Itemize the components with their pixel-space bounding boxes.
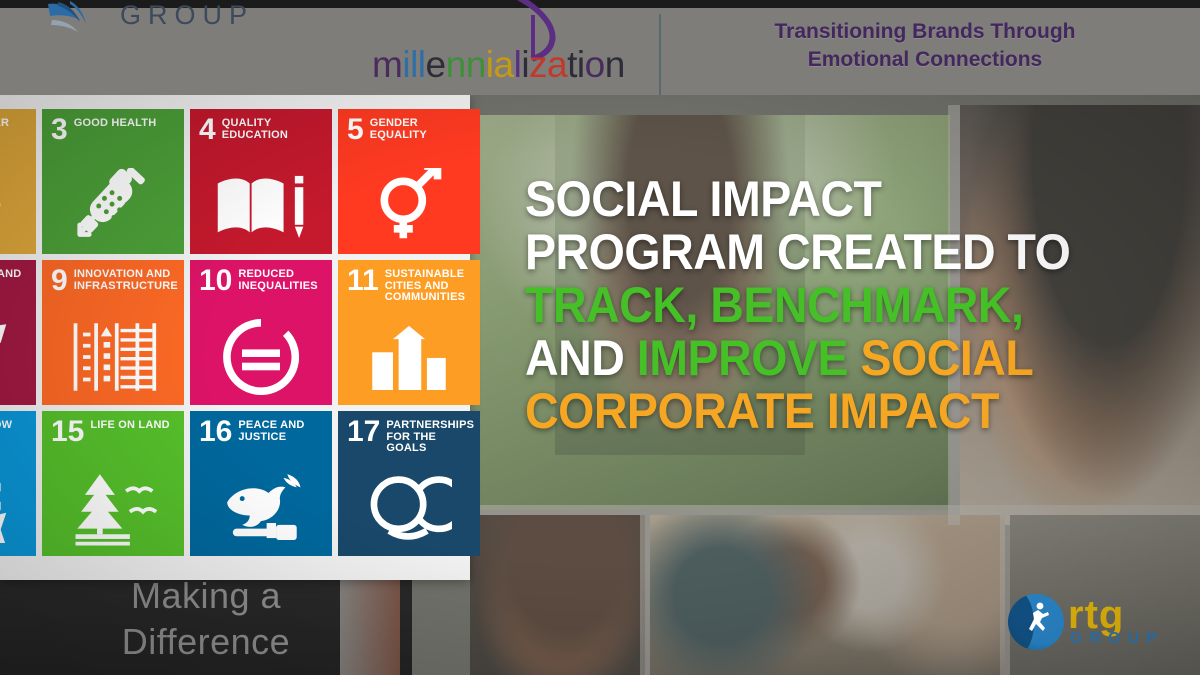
sdg-tile-header: 9INNOVATION AND INFRASTRUCTURE [51,268,178,294]
rtg-wordmark: rtg [1068,596,1124,634]
sdg-tile-4[interactable]: 4QUALITY EDUCATION [190,109,332,254]
headline-line-2: PROGRAM CREATED TO [525,226,1009,279]
sdg-tile-2[interactable]: 2ZERO HUNGER [0,109,36,254]
headline-line-3: TRACK, BENCHMARK, [525,279,1009,332]
sdg-tile-title: GOOD HEALTH [74,117,157,130]
sdg-tile-title: ZERO HUNGER [0,117,9,130]
sdg-tile-5[interactable]: 5GENDER EQUALITY [338,109,480,254]
headline-segment-4-2: IMPROVE [637,330,861,386]
sdg-tile-title: LIFE ON LAND [90,419,169,432]
rtg-group-subtext: GROUP [1070,630,1164,648]
mlz-letter-4: e [426,44,446,85]
sdg-tile-header: 14LIFE BELOW WATER [0,419,30,445]
mlz-letter-6: n [466,44,486,85]
mlz-letter-8: a [494,44,514,85]
sdg-tile-number: 16 [199,419,232,445]
mlz-letter-10: i [521,44,529,85]
slide-headline: SOCIAL IMPACTPROGRAM CREATED TOTRACK, BE… [525,173,1009,438]
sdg-tile-header: 15LIFE ON LAND [51,419,178,445]
slide-body: Making a Difference SOCIAL IMPACTPROGRAM… [0,95,1200,675]
chalkboard-caption: Making a Difference [0,573,412,665]
sdg-tile-header: 10REDUCED INEQUALITIES [199,268,326,294]
mlz-letter-3: l [418,44,426,85]
sdg-tile-number: 17 [347,419,380,445]
sdg-tile-number: 5 [347,117,364,143]
header-tagline: Transitioning Brands Through Emotional C… [690,18,1160,74]
sdg-goals-grid: 2ZERO HUNGER 3GOOD HEALTH 4QUALITY EDUCA… [0,109,480,556]
book-pencil-icon [190,166,332,246]
mlz-letter-14: i [577,44,585,85]
headline-segment-2-1: PROGRAM CREATED TO [525,224,1070,280]
mlz-letter-5: n [446,44,466,85]
city-buildings-icon [338,317,480,397]
millennialization-wordmark: millennialization [372,44,625,86]
partnership-rings-icon [338,468,480,548]
tree-birds-icon [42,468,184,548]
mlz-letter-16: n [605,44,625,85]
sdg-tile-10[interactable]: 10REDUCED INEQUALITIES [190,260,332,405]
infrastructure-icon [42,317,184,397]
rtg-group-logo[interactable]: rtg GROUP [1008,592,1188,654]
millennialization-logo[interactable]: millennialization [372,2,642,98]
growth-chart-icon [0,317,36,397]
sdg-tile-title: QUALITY EDUCATION [222,117,326,141]
sdg-tile-title: GOOD JOBS AND ECONOMIC GROWTH [0,268,30,304]
sdg-tile-title: SUSTAINABLE CITIES AND COMMUNITIES [385,268,474,304]
sdg-tile-title: INNOVATION AND INFRASTRUCTURE [74,268,178,292]
sdg-tile-title: PEACE AND JUSTICE [238,419,326,443]
sdg-tile-3[interactable]: 3GOOD HEALTH [42,109,184,254]
sdg-tile-title: REDUCED INEQUALITIES [238,268,326,292]
mlz-letter-11: z [529,44,547,85]
sdg-tile-14[interactable]: 14LIFE BELOW WATER [0,411,36,556]
mlz-letter-2: l [410,44,418,85]
headline-segment-4-1: AND [525,330,637,386]
sdg-tile-9[interactable]: 9INNOVATION AND INFRASTRUCTURE [42,260,184,405]
bowl-steam-icon [0,166,36,246]
mlz-letter-0: m [372,44,402,85]
sdg-tile-15[interactable]: 15LIFE ON LAND [42,411,184,556]
headline-line-4: AND IMPROVE SOCIAL [525,332,1009,385]
mlz-letter-7: i [486,44,494,85]
tagline-line-2: Emotional Connections [690,46,1160,74]
fish-waves-icon [0,468,36,548]
sdg-tile-number: 11 [347,268,379,294]
dove-gavel-icon [190,468,332,548]
sdg-tile-header: 2ZERO HUNGER [0,117,30,143]
sdg-tile-number: 15 [51,419,84,445]
sdg-goals-panel[interactable]: 2ZERO HUNGER 3GOOD HEALTH 4QUALITY EDUCA… [0,95,470,580]
equals-circle-icon [190,317,332,397]
sdg-tile-title: PARTNERSHIPS FOR THE GOALS [386,419,474,455]
sdg-tile-number: 10 [199,268,232,294]
headline-line-1: SOCIAL IMPACT [525,173,1009,226]
chalkboard-line-2: Difference [0,619,412,665]
sdg-tile-header: 4QUALITY EDUCATION [199,117,326,143]
mlz-letter-1: i [402,44,410,85]
sdg-tile-16[interactable]: 16PEACE AND JUSTICE [190,411,332,556]
header-band: GROUP millennialization Transitioning Br… [0,8,1200,95]
sdg-tile-header: 3GOOD HEALTH [51,117,178,143]
sdg-tile-title: LIFE BELOW WATER [0,419,30,443]
sdg-tile-header: 11SUSTAINABLE CITIES AND COMMUNITIES [347,268,474,304]
gender-equality-icon [338,166,480,246]
partner-group-logo[interactable]: GROUP [28,0,268,40]
runner-figure-icon [1027,601,1051,641]
mlz-letter-13: t [567,44,577,85]
sdg-tile-header: 5GENDER EQUALITY [347,117,474,143]
headline-segment-3-1: TRACK, BENCHMARK, [525,277,1023,333]
sdg-tile-number: 4 [199,117,216,143]
partner-group-logo-word: GROUP [120,0,254,31]
bandage-icon [42,166,184,246]
slide-canvas: GROUP millennialization Transitioning Br… [0,0,1200,675]
headline-segment-4-3: SOCIAL [860,330,1033,386]
sdg-tile-header: 8GOOD JOBS AND ECONOMIC GROWTH [0,268,30,304]
mlz-letter-15: o [585,44,605,85]
mlz-letter-12: a [547,44,567,85]
headline-segment-1-1: SOCIAL IMPACT [525,171,881,227]
headline-segment-5-1: CORPORATE IMPACT [525,383,999,439]
sdg-tile-number: 3 [51,117,68,143]
sdg-tile-title: GENDER EQUALITY [370,117,474,141]
tagline-line-1: Transitioning Brands Through [690,18,1160,46]
swoosh-logo-mark [46,0,102,34]
sdg-tile-11[interactable]: 11SUSTAINABLE CITIES AND COMMUNITIES [338,260,480,405]
headline-line-5: CORPORATE IMPACT [525,385,1009,438]
sdg-tile-17[interactable]: 17PARTNERSHIPS FOR THE GOALS [338,411,480,556]
sdg-tile-number: 9 [51,268,68,294]
header-divider [659,14,661,96]
sdg-tile-header: 16PEACE AND JUSTICE [199,419,326,445]
sdg-tile-header: 17PARTNERSHIPS FOR THE GOALS [347,419,474,455]
sdg-tile-8[interactable]: 8GOOD JOBS AND ECONOMIC GROWTH [0,260,36,405]
